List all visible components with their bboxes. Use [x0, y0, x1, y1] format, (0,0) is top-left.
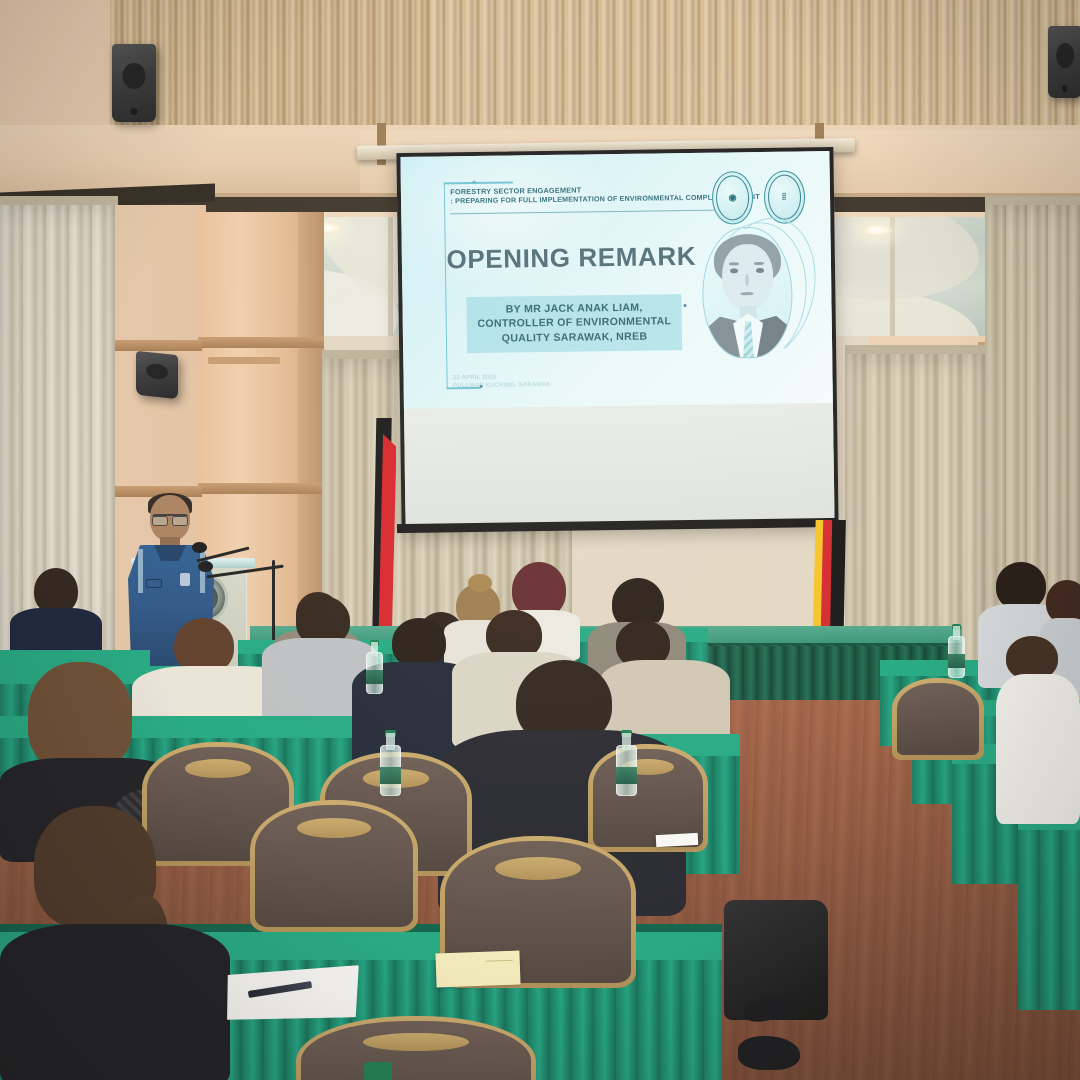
- ceiling-speaker-left: [112, 44, 156, 122]
- column-trim-upper: [198, 337, 324, 348]
- speaker-tweeter-icon: [1062, 85, 1067, 91]
- logo-inner-ring: [767, 174, 801, 219]
- speaker-cone-icon: [146, 362, 168, 379]
- fluted-panel-band-left: [110, 0, 440, 132]
- person-hair-bun: [468, 574, 492, 592]
- person-torso: [996, 674, 1080, 824]
- yellow-notepad: [435, 951, 520, 988]
- bottle-label: [616, 767, 637, 784]
- conference-hall-photo: + + FORESTRY SECTOR ENGAGEMENT : PREPARI…: [0, 0, 1080, 1080]
- speaker-cone-icon: [1056, 43, 1074, 67]
- slide-crosshair-top: +: [472, 178, 477, 187]
- slide-tick-left-mid: [684, 304, 687, 307]
- chair-front-a: [250, 800, 418, 932]
- chair-back-notch: [363, 1033, 469, 1051]
- bottle-label: [948, 654, 965, 668]
- shoe-on-floor: [738, 1036, 800, 1070]
- ceiling-speaker-right: [1048, 26, 1080, 98]
- audience-person-right-white-shirt: [996, 636, 1080, 816]
- projection-screen-blank-area: [404, 403, 835, 527]
- column-trim-lower: [198, 483, 324, 494]
- audience-person-front-ponytail: [0, 806, 230, 1080]
- slide-footer: 22 APRIL 2025 PULLMAN KUCHING, SARAWAK: [453, 373, 551, 390]
- speaker-cone-icon: [123, 63, 146, 90]
- slide-subtitle-line3: QUALITY SARAWAK, NREB: [471, 329, 678, 346]
- logo-sarawak-forestry: ⦙⦙: [763, 170, 805, 223]
- slide-footer-line2: PULLMAN KUCHING, SARAWAK: [453, 381, 551, 390]
- flag-right-of-screen: [812, 520, 848, 636]
- bottle-label: [380, 767, 401, 784]
- chair-back-notch: [185, 759, 252, 778]
- water-bottle-row2-right: [616, 730, 637, 796]
- curtain-rail-right: [845, 345, 987, 354]
- bottle-label: [366, 670, 383, 684]
- presenter-eyeglasses: [152, 514, 188, 523]
- table-row-right-1-skirt: [1018, 830, 1080, 1010]
- chair-back: [892, 678, 984, 760]
- curtain-rail-far-right: [985, 196, 1080, 205]
- person-torso: [0, 924, 230, 1080]
- mullion: [890, 217, 895, 342]
- person-head: [996, 562, 1046, 610]
- presenter-name-badge: [180, 573, 190, 586]
- curtain-right-of-screen: [845, 350, 985, 670]
- water-bottle-row2-left: [380, 730, 401, 796]
- upper-wall-corner: [0, 0, 110, 132]
- presenter-shoulder-stripe-left: [138, 549, 143, 593]
- curtain-rail-left: [0, 196, 118, 205]
- ceiling-downlight: [862, 225, 892, 236]
- microphone-head-right: [198, 561, 213, 572]
- chair-pad: [897, 683, 979, 755]
- water-bottle-mid-left: [366, 640, 383, 694]
- logo-nreb: ◉: [712, 171, 754, 224]
- fluted-panel-band-right: [430, 0, 1080, 128]
- speaker-tweeter-icon: [130, 108, 137, 115]
- mullion: [388, 217, 393, 342]
- note-sheet-row2: [656, 833, 699, 847]
- projection-screen: + + FORESTRY SECTOR ENGAGEMENT : PREPARI…: [396, 147, 838, 531]
- chair-back-notch: [495, 857, 581, 880]
- person-head: [28, 662, 132, 772]
- room-shell: + + FORESTRY SECTOR ENGAGEMENT : PREPARI…: [0, 0, 1080, 1080]
- bottle-cap-front-table: [364, 1062, 392, 1080]
- logo-inner-ring: [716, 175, 750, 220]
- presentation-slide: + + FORESTRY SECTOR ENGAGEMENT : PREPARI…: [400, 151, 832, 409]
- chair-row2-d: [892, 678, 984, 760]
- notepad-line: [486, 960, 513, 962]
- water-bottle-mid-center: [948, 624, 965, 678]
- wall-speaker-left: [136, 351, 178, 399]
- speaker-bracket-left: [208, 357, 280, 364]
- note-sheet-front: [225, 965, 361, 1023]
- wall-trim-left-upper: [112, 340, 202, 351]
- presenter-shirt-pocket: [146, 579, 162, 588]
- chair-front-nearest: [296, 1016, 536, 1080]
- flag-black-stripe: [830, 520, 846, 636]
- microphone-head-left: [192, 542, 207, 553]
- slide-subtitle-block: BY MR JACK ANAK LIAM, CONTROLLER OF ENVI…: [467, 294, 682, 353]
